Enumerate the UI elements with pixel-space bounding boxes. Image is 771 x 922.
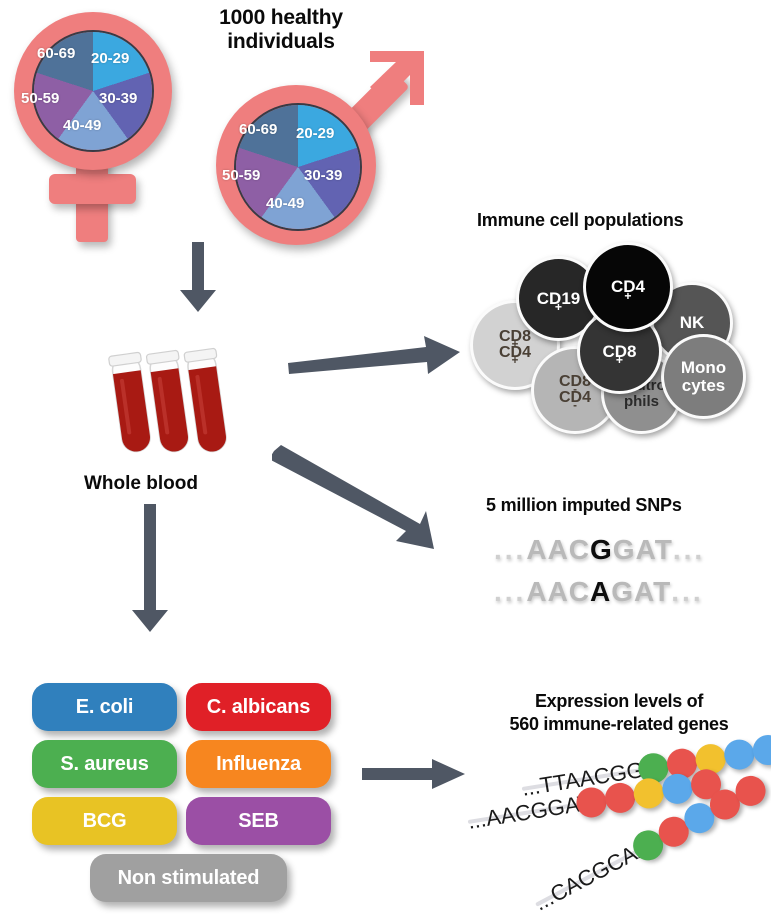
expression-bead: [660, 772, 694, 806]
cell-label-line2: CD4+: [499, 345, 531, 361]
stimulus-chip-c-albicans[interactable]: C. albicans: [186, 683, 331, 731]
stimulus-chip-seb[interactable]: SEB: [186, 797, 331, 845]
cell-cd4pos: CD4+: [583, 242, 673, 332]
snp-ellipsis-left: ...: [494, 576, 526, 607]
arrow-down-to-stimuli: [130, 504, 170, 634]
cell-label: CD19+: [537, 290, 580, 307]
snp-section-title: 5 million imputed SNPs: [486, 495, 682, 516]
stimulus-chip-bcg[interactable]: BCG: [32, 797, 177, 845]
stimulus-chip-s-aureus[interactable]: S. aureus: [32, 740, 177, 788]
expression-title-line1: Expression levels of: [478, 690, 760, 713]
snp-prefix: AAC: [526, 534, 590, 565]
figure-canvas: 1000 healthy individuals 20-29 30-39 40-…: [0, 0, 771, 922]
cell-label-line2: phils: [617, 394, 665, 409]
whole-blood-label: Whole blood: [84, 473, 198, 495]
cell-label: NK: [680, 314, 705, 331]
snp-prefix: AAC: [526, 576, 590, 607]
snp-sequence-row-2: ...AACAGAT...: [494, 576, 704, 608]
expression-bead: [603, 781, 637, 815]
cell-label-line1: CD8+: [499, 329, 531, 345]
snp-variant-allele: A: [590, 576, 611, 607]
expression-title-line2: 560 immune-related genes: [478, 713, 760, 736]
snp-suffix: GAT: [613, 534, 673, 565]
arrow-blood-to-snps: [272, 445, 452, 555]
immune-cell-cluster: CD8+ CD4+ CD19+ CD4+ NK CD8+ Mono cytes …: [0, 0, 771, 430]
cell-label-line2: cytes: [681, 377, 726, 394]
cell-label-line2: CD4-: [559, 390, 591, 406]
snp-variant-allele: G: [590, 534, 613, 565]
stimulus-chip-influenza[interactable]: Influenza: [186, 740, 331, 788]
snp-ellipsis-left: ...: [494, 534, 526, 565]
stimulus-chip-non-stimulated[interactable]: Non stimulated: [90, 854, 287, 902]
stimulus-chip-e-coli[interactable]: E. coli: [32, 683, 177, 731]
snp-sequence-row-1: ...AACGGAT...: [494, 534, 705, 566]
strand-sequence-label: ...AACGGAT: [466, 790, 593, 835]
cell-monocytes: Mono cytes: [661, 334, 746, 419]
snp-ellipsis-right: ...: [673, 534, 705, 565]
arrow-stimuli-to-expression: [362, 757, 467, 791]
cell-label: CD4+: [611, 278, 645, 295]
cell-label-line1: Mono: [681, 359, 726, 376]
expression-bead: [632, 776, 666, 810]
cell-label: CD8+: [602, 343, 636, 360]
expression-section-title: Expression levels of 560 immune-related …: [478, 690, 760, 735]
snp-suffix: GAT: [611, 576, 671, 607]
snp-ellipsis-right: ...: [671, 576, 703, 607]
